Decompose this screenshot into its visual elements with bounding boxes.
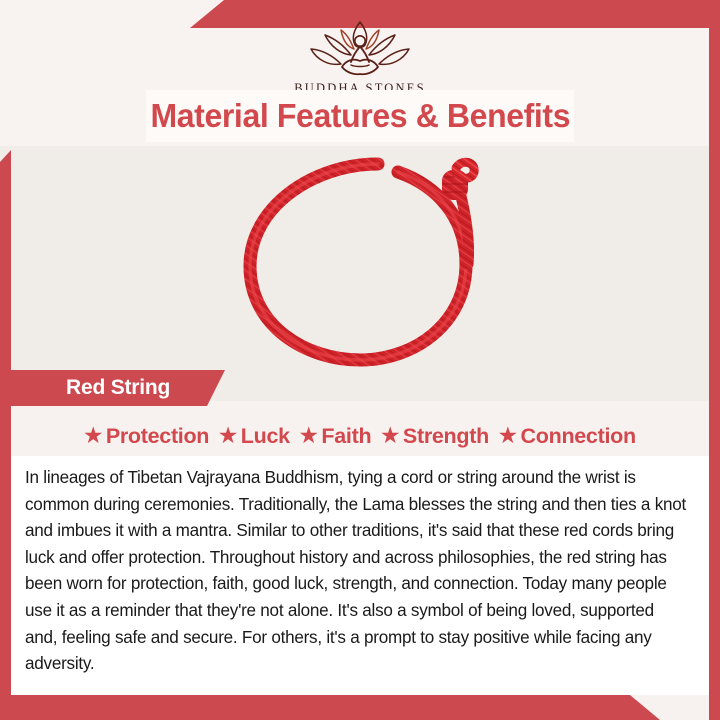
description-block: In lineages of Tibetan Vajrayana Buddhis…: [11, 456, 709, 695]
benefit-connection: ★ Connection: [494, 424, 641, 449]
benefit-label: Strength: [403, 424, 489, 449]
brand-logo: BUDDHA STONES: [0, 18, 720, 96]
benefit-strength: ★ Strength: [376, 424, 494, 449]
description-text: In lineages of Tibetan Vajrayana Buddhis…: [25, 464, 690, 677]
benefit-label: Protection: [106, 424, 209, 449]
benefit-faith: ★ Faith: [295, 424, 377, 449]
benefit-label: Luck: [241, 424, 290, 449]
benefits-row: ★ Protection ★ Luck ★ Faith ★ Strength ★…: [11, 418, 709, 454]
bottom-ribbon-decoration: [0, 695, 660, 720]
product-tag: Red String: [11, 370, 225, 406]
lotus-meditation-icon: [0, 18, 720, 80]
star-icon: ★: [381, 426, 399, 446]
page-title-band: Material Features & Benefits: [146, 90, 574, 142]
page-title: Material Features & Benefits: [150, 97, 570, 135]
benefit-luck: ★ Luck: [214, 424, 295, 449]
star-icon: ★: [300, 426, 318, 446]
product-tag-label: Red String: [66, 376, 170, 400]
benefit-protection: ★ Protection: [79, 424, 214, 449]
infographic-page: BUDDHA STONES Material Features & Benefi…: [0, 0, 720, 720]
benefit-label: Connection: [521, 424, 636, 449]
red-string-bracelet-image: [220, 146, 500, 376]
benefit-label: Faith: [321, 424, 371, 449]
product-photo: [0, 146, 720, 401]
star-icon: ★: [84, 426, 102, 446]
star-icon: ★: [499, 426, 517, 446]
star-icon: ★: [219, 426, 237, 446]
